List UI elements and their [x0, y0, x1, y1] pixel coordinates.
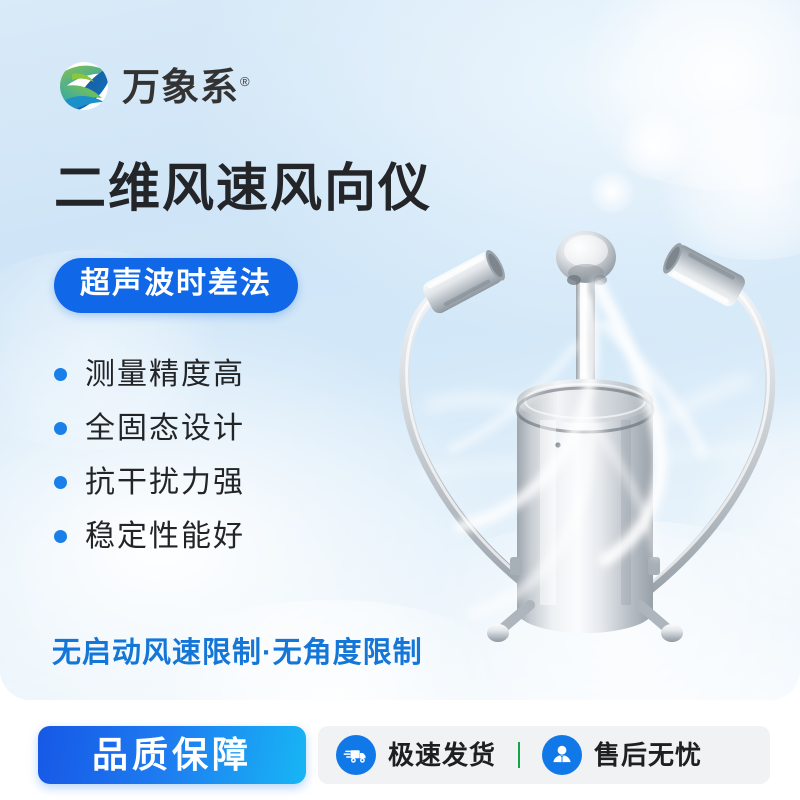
- brand-logo: 万象系®: [56, 58, 251, 114]
- bullet-dot-icon: [54, 422, 67, 435]
- customer-service-person-icon: [542, 735, 582, 775]
- page-title: 二维风速风向仪: [54, 160, 432, 220]
- product-poster: 万象系® 二维风速风向仪 超声波时差法 测量精度高 全固态设计 抗干扰力强 稳定…: [0, 0, 800, 800]
- tagline: 无启动风速限制·无角度限制: [52, 629, 423, 671]
- trademark-symbol: ®: [240, 74, 251, 89]
- feature-label: 全固态设计: [85, 412, 245, 445]
- list-item: 稳定性能好: [54, 520, 245, 553]
- list-item: 全固态设计: [54, 412, 245, 445]
- list-item: 抗干扰力强: [54, 466, 245, 499]
- quality-assurance-badge: 品质保障: [38, 726, 306, 784]
- bullet-dot-icon: [54, 368, 67, 381]
- hero-panel: 万象系® 二维风速风向仪 超声波时差法 测量精度高 全固态设计 抗干扰力强 稳定…: [0, 0, 800, 700]
- service-item-shipping: 极速发货: [318, 735, 518, 775]
- globe-swirl-icon: [56, 58, 112, 114]
- service-item-aftersales: 售后无忧: [520, 735, 724, 775]
- product-image: [390, 205, 790, 665]
- list-item: 测量精度高: [54, 358, 245, 391]
- feature-label: 抗干扰力强: [85, 466, 245, 499]
- technology-badge: 超声波时差法: [54, 258, 298, 313]
- bullet-dot-icon: [54, 476, 67, 489]
- feature-list: 测量精度高 全固态设计 抗干扰力强 稳定性能好: [54, 358, 245, 553]
- bullet-dot-icon: [54, 530, 67, 543]
- brand-name: 万象系®: [122, 69, 251, 107]
- feature-label: 稳定性能好: [85, 520, 245, 553]
- service-guarantee-bar: 极速发货 售后无忧: [318, 726, 770, 784]
- feature-label: 测量精度高: [85, 358, 245, 391]
- sun-glow-decoration: [620, 110, 690, 180]
- service-label: 售后无忧: [594, 742, 702, 768]
- service-label: 极速发货: [388, 742, 496, 768]
- delivery-truck-icon: [336, 735, 376, 775]
